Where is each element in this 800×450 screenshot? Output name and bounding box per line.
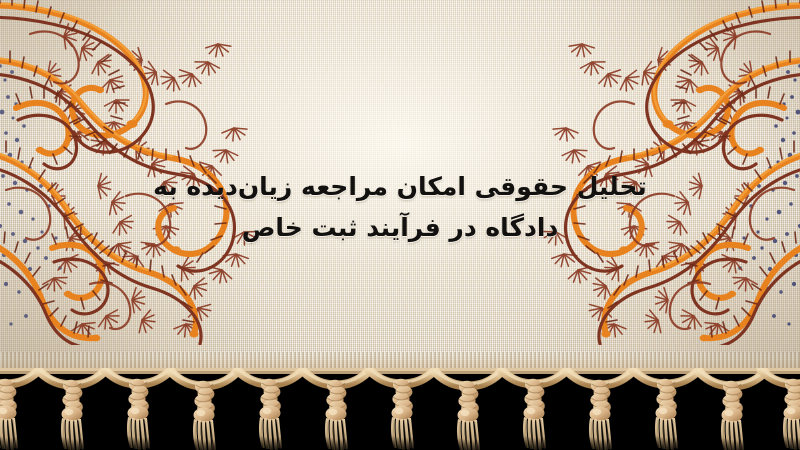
title-card: تحلیل حقوقی امکان مراجعه زیان‌دیده به دا… [0, 0, 800, 450]
page-title: تحلیل حقوقی امکان مراجعه زیان‌دیده به دا… [0, 166, 800, 248]
title-line-1: تحلیل حقوقی امکان مراجعه زیان‌دیده به [0, 166, 800, 207]
title-line-2: دادگاه در فرآیند ثبت خاص [0, 207, 800, 248]
tassel-fringe [0, 368, 800, 450]
